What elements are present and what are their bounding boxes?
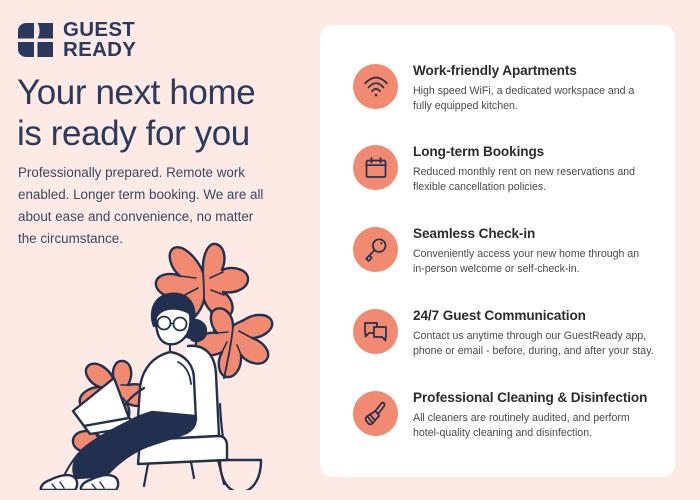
chat-bubbles-icon xyxy=(353,309,398,354)
feature-description: All cleaners are routinely audited, and … xyxy=(413,411,663,441)
wifi-icon xyxy=(353,64,398,109)
features-panel: Work-friendly Apartments High speed WiFi… xyxy=(320,25,675,477)
feature-item-seamless-check-in[interactable]: Seamless Check-in Conveniently access yo… xyxy=(353,225,663,277)
feature-title: 24/7 Guest Communication xyxy=(413,308,663,324)
feature-description: High speed WiFi, a dedicated workspace a… xyxy=(413,84,663,114)
feature-item-guest-communication[interactable]: 24/7 Guest Communication Contact us anyt… xyxy=(353,307,663,359)
hero-illustration xyxy=(28,228,318,490)
feature-title: Professional Cleaning & Disinfection xyxy=(413,390,663,406)
brand-logo[interactable]: GUEST READY xyxy=(17,20,136,60)
key-icon xyxy=(353,227,398,272)
hero-column: GUEST READY Your next home is ready for … xyxy=(0,0,320,500)
brand-wordmark: GUEST READY xyxy=(63,20,136,60)
calendar-icon xyxy=(353,145,398,190)
feature-text: Seamless Check-in Conveniently access yo… xyxy=(413,225,663,277)
feature-text: Long-term Bookings Reduced monthly rent … xyxy=(413,143,663,195)
feature-item-work-friendly-apartments[interactable]: Work-friendly Apartments High speed WiFi… xyxy=(353,62,663,114)
feature-text: Work-friendly Apartments High speed WiFi… xyxy=(413,62,663,114)
feature-item-cleaning-disinfection[interactable]: Professional Cleaning & Disinfection All… xyxy=(353,389,663,441)
feature-description: Reduced monthly rent on new reservations… xyxy=(413,165,663,195)
feature-title: Seamless Check-in xyxy=(413,226,663,242)
feature-text: 24/7 Guest Communication Contact us anyt… xyxy=(413,307,663,359)
feature-item-long-term-bookings[interactable]: Long-term Bookings Reduced monthly rent … xyxy=(353,143,663,195)
feature-description: Contact us anytime through our GuestRead… xyxy=(413,329,663,359)
page-title: Your next home is ready for you xyxy=(17,72,307,155)
feature-title: Work-friendly Apartments xyxy=(413,63,663,79)
feature-description: Conveniently access your new home throug… xyxy=(413,247,663,277)
feature-title: Long-term Bookings xyxy=(413,144,663,160)
guestready-quadrant-logo-icon xyxy=(17,22,54,58)
feature-text: Professional Cleaning & Disinfection All… xyxy=(413,389,663,441)
broom-icon xyxy=(353,391,398,436)
